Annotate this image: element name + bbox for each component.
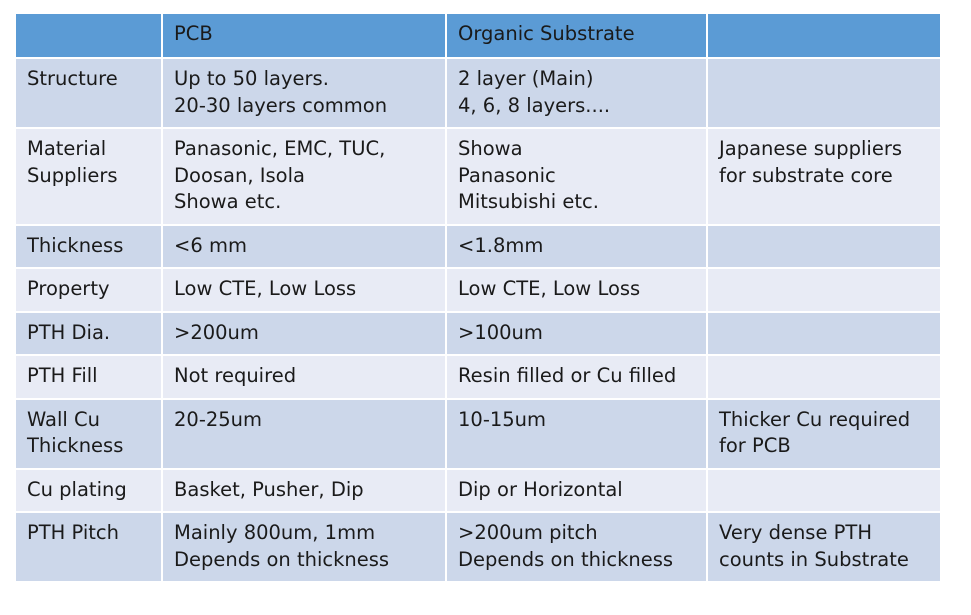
cell-notes: Thicker Cu requiredfor PCB	[708, 400, 940, 470]
cell-organic-substrate: 10-15um	[447, 400, 708, 470]
cell-row-label: Wall Cu Thickness	[16, 400, 163, 470]
cell-text-line: Panasonic, EMC, TUC,	[174, 136, 435, 163]
cell-row-label: Thickness	[16, 226, 163, 270]
cell-organic-substrate: 2 layer (Main)4, 6, 8 layers....	[447, 59, 708, 129]
cell-pcb: Not required	[163, 356, 447, 400]
cell-pcb: Up to 50 layers.20-30 layers common	[163, 59, 447, 129]
header-cell-row-label	[16, 14, 163, 59]
cell-pcb: <6 mm	[163, 226, 447, 270]
cell-text-line: 20-25um	[174, 407, 435, 434]
table-row: StructureUp to 50 layers.20-30 layers co…	[16, 59, 940, 129]
cell-text-line: for PCB	[719, 433, 930, 460]
cell-text-line: >200um pitch	[458, 520, 696, 547]
cell-pcb: Panasonic, EMC, TUC,Doosan, IsolaShowa e…	[163, 129, 447, 226]
cell-row-label: Cu plating	[16, 470, 163, 514]
cell-notes: Very dense PTHcounts in Substrate	[708, 513, 940, 581]
cell-text-line: >200um	[174, 320, 435, 347]
cell-text-line: 20-30 layers common	[174, 93, 435, 120]
cell-text-line: Panasonic	[458, 163, 696, 190]
cell-text-line: Depends on thickness	[458, 547, 696, 574]
header-row: PCB Organic Substrate	[16, 14, 940, 59]
pcb-vs-organic-substrate-table: PCB Organic Substrate StructureUp to 50 …	[16, 14, 940, 581]
cell-row-label: Material Suppliers	[16, 129, 163, 226]
cell-text-line: Low CTE, Low Loss	[458, 276, 696, 303]
cell-organic-substrate: Dip or Horizontal	[447, 470, 708, 514]
cell-pcb: Mainly 800um, 1mmDepends on thickness	[163, 513, 447, 581]
cell-text-line: Dip or Horizontal	[458, 477, 696, 504]
cell-text-line: <6 mm	[174, 233, 435, 260]
cell-notes	[708, 269, 940, 313]
cell-text-line: Low CTE, Low Loss	[174, 276, 435, 303]
cell-row-label: PTH Dia.	[16, 313, 163, 357]
header-cell-pcb: PCB	[163, 14, 447, 59]
cell-organic-substrate: Resin filled or Cu filled	[447, 356, 708, 400]
cell-text-line: >100um	[458, 320, 696, 347]
table-row: PropertyLow CTE, Low LossLow CTE, Low Lo…	[16, 269, 940, 313]
cell-notes	[708, 59, 940, 129]
cell-organic-substrate: Low CTE, Low Loss	[447, 269, 708, 313]
cell-text-line: 10-15um	[458, 407, 696, 434]
table-row: Cu platingBasket, Pusher, DipDip or Hori…	[16, 470, 940, 514]
cell-notes	[708, 313, 940, 357]
table-row: Wall Cu Thickness20-25um10-15umThicker C…	[16, 400, 940, 470]
cell-notes	[708, 226, 940, 270]
table-row: PTH PitchMainly 800um, 1mmDepends on thi…	[16, 513, 940, 581]
cell-text-line: Showa etc.	[174, 189, 435, 216]
cell-organic-substrate: >100um	[447, 313, 708, 357]
cell-text-line: Showa	[458, 136, 696, 163]
cell-pcb: >200um	[163, 313, 447, 357]
cell-text-line: counts in Substrate	[719, 547, 930, 574]
cell-text-line: 2 layer (Main)	[458, 66, 696, 93]
cell-text-line: Japanese suppliers	[719, 136, 930, 163]
cell-text-line: Up to 50 layers.	[174, 66, 435, 93]
cell-notes	[708, 470, 940, 514]
cell-row-label: Structure	[16, 59, 163, 129]
cell-text-line: 4, 6, 8 layers....	[458, 93, 696, 120]
header-cell-organic-substrate: Organic Substrate	[447, 14, 708, 59]
cell-text-line: Mitsubishi etc.	[458, 189, 696, 216]
cell-text-line: Thicker Cu required	[719, 407, 930, 434]
header-cell-notes	[708, 14, 940, 59]
table-row: PTH Dia.>200um>100um	[16, 313, 940, 357]
cell-row-label: PTH Pitch	[16, 513, 163, 581]
cell-text-line: Doosan, Isola	[174, 163, 435, 190]
table-row: Thickness<6 mm<1.8mm	[16, 226, 940, 270]
cell-organic-substrate: ShowaPanasonicMitsubishi etc.	[447, 129, 708, 226]
table-row: PTH FillNot requiredResin filled or Cu f…	[16, 356, 940, 400]
table-header: PCB Organic Substrate	[16, 14, 940, 59]
cell-text-line: Very dense PTH	[719, 520, 930, 547]
cell-text-line: Mainly 800um, 1mm	[174, 520, 435, 547]
cell-organic-substrate: <1.8mm	[447, 226, 708, 270]
cell-text-line: Depends on thickness	[174, 547, 435, 574]
table-row: Material SuppliersPanasonic, EMC, TUC,Do…	[16, 129, 940, 226]
cell-row-label: Property	[16, 269, 163, 313]
cell-text-line: Basket, Pusher, Dip	[174, 477, 435, 504]
cell-row-label: PTH Fill	[16, 356, 163, 400]
cell-notes: Japanese suppliersfor substrate core	[708, 129, 940, 226]
cell-text-line: Resin filled or Cu filled	[458, 363, 696, 390]
cell-text-line: for substrate core	[719, 163, 930, 190]
table-body: StructureUp to 50 layers.20-30 layers co…	[16, 59, 940, 581]
cell-text-line: <1.8mm	[458, 233, 696, 260]
cell-notes	[708, 356, 940, 400]
cell-pcb: 20-25um	[163, 400, 447, 470]
cell-pcb: Basket, Pusher, Dip	[163, 470, 447, 514]
cell-organic-substrate: >200um pitchDepends on thickness	[447, 513, 708, 581]
cell-text-line: Not required	[174, 363, 435, 390]
cell-pcb: Low CTE, Low Loss	[163, 269, 447, 313]
